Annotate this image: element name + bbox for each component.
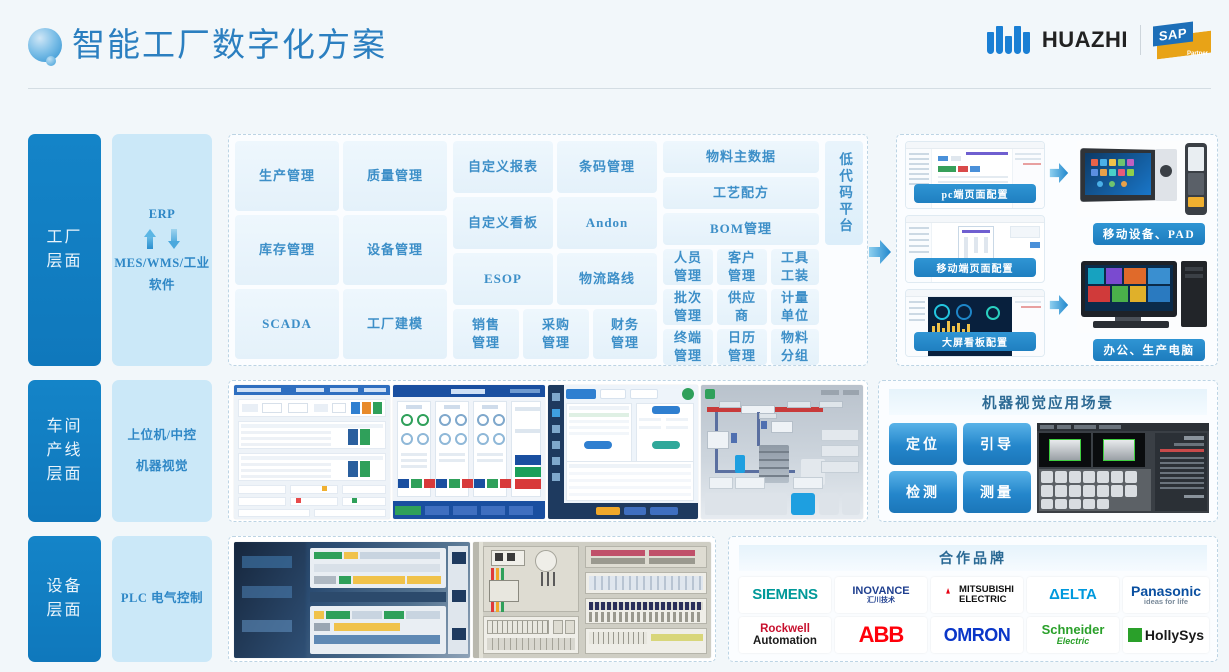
tile-line-1: 计量 xyxy=(781,289,809,307)
tile-line-1: 采购 xyxy=(542,316,570,334)
device-pill: 办公、生产电脑 xyxy=(1093,339,1205,361)
module-tile[interactable]: 物料分组 xyxy=(771,329,819,365)
module-tile[interactable]: 批次管理 xyxy=(663,289,713,325)
mes-form-screen[interactable] xyxy=(234,385,390,519)
module-tile[interactable]: 设备管理 xyxy=(343,215,447,285)
devices-panel: pc端页面配置 移动端页面配置 xyxy=(896,134,1218,366)
pc-config-card[interactable]: pc端页面配置 xyxy=(905,141,1045,209)
scada-3d-screen[interactable] xyxy=(701,385,863,519)
module-tile[interactable]: 工厂建模 xyxy=(343,289,447,359)
device-pill: 移动设备、PAD xyxy=(1093,223,1205,245)
brand-text: ΔELTA xyxy=(1049,587,1097,603)
brand-subtext: ideas for life xyxy=(1144,598,1188,606)
software-badge-equipment: PLC 电气控制 xyxy=(112,536,212,662)
layer-line-2: 层面 xyxy=(46,599,82,623)
module-tile[interactable]: 生产管理 xyxy=(235,141,339,211)
vision-title: 机器视觉应用场景 xyxy=(889,389,1207,415)
machine-vision-panel: 机器视觉应用场景 定位 引导 检测 测量 xyxy=(878,380,1218,522)
scada-label-1: 上位机/中控 xyxy=(128,425,197,446)
flow-arrow-icon xyxy=(1049,295,1069,315)
tile-line-1: 工具 xyxy=(781,249,809,267)
brand-logo[interactable]: HollySys xyxy=(1123,617,1209,653)
huazhi-mark-icon xyxy=(987,26,1030,54)
module-tile[interactable]: 日历管理 xyxy=(717,329,767,365)
vision-button[interactable]: 检测 xyxy=(889,471,957,513)
tile-line-1: 客户 xyxy=(728,249,756,267)
mobile-config-card[interactable]: 移动端页面配置 xyxy=(905,215,1045,283)
huazhi-brand-name: HUAZHI xyxy=(1042,27,1128,53)
module-tile[interactable]: 销售 管理 xyxy=(453,309,519,359)
tile-line-2: 工装 xyxy=(781,267,809,285)
tile-line-1: 人员 xyxy=(674,249,702,267)
tile-line-1: 物料 xyxy=(781,329,809,347)
layer-line-1: 工厂 xyxy=(46,226,82,250)
module-tile[interactable]: 客户管理 xyxy=(717,249,767,285)
module-tile[interactable]: 人员管理 xyxy=(663,249,713,285)
brand-text: OMRON xyxy=(944,626,1011,645)
brand-logo[interactable]: INOVANCE汇川技术 xyxy=(835,577,927,613)
module-tile[interactable]: 自定义看板 xyxy=(453,197,553,249)
brand-text: Schneider xyxy=(1042,623,1105,637)
brand-text: Panasonic xyxy=(1131,584,1201,599)
flow-arrow-icon xyxy=(1049,163,1069,183)
tile-line-2: 管理 xyxy=(728,267,756,285)
module-tile[interactable]: 采购 管理 xyxy=(523,309,589,359)
updown-arrows-icon xyxy=(144,229,180,249)
tile-line-2: 管理 xyxy=(674,267,702,285)
brand-text: HollySys xyxy=(1145,628,1204,643)
workshop-screenshots-panel xyxy=(228,380,868,522)
sap-logo-text: SAP xyxy=(1159,25,1187,43)
module-tile[interactable]: 财务 管理 xyxy=(593,309,657,359)
tile-line-1: 日历 xyxy=(728,329,756,347)
lowcode-platform-tile[interactable]: 低代码平台 xyxy=(825,141,863,245)
erp-label: ERP xyxy=(149,204,176,225)
vision-button[interactable]: 测量 xyxy=(963,471,1031,513)
layer-badge-equipment: 设备 层面 xyxy=(28,536,101,662)
tile-line-2: 管理 xyxy=(674,307,702,325)
page-title: 智能工厂数字化方案 xyxy=(72,18,387,66)
equipment-photos-panel xyxy=(228,536,716,662)
wms-list-screen[interactable] xyxy=(548,385,698,519)
layer-line-2: 产线 xyxy=(46,439,82,463)
software-badge-workshop: 上位机/中控 机器视觉 xyxy=(112,380,212,522)
module-tile[interactable]: 供应商 xyxy=(717,289,767,325)
tile-line-1: 供应 xyxy=(728,289,756,307)
tile-line-2: 管理 xyxy=(728,347,756,365)
vision-button[interactable]: 定位 xyxy=(889,423,957,465)
layer-badge-workshop: 车间 产线 层面 xyxy=(28,380,101,522)
brands-title: 合作品牌 xyxy=(739,545,1207,571)
module-tile[interactable]: 工具工装 xyxy=(771,249,819,285)
plc-label: PLC 电气控制 xyxy=(121,588,203,609)
partner-brands-panel: 合作品牌 SIEMENS INOVANCE汇川技术 MITSUBISHI ELE… xyxy=(728,536,1218,662)
mes-label-1: MES/WMS/工业 xyxy=(114,253,209,274)
logo-divider xyxy=(1140,25,1141,55)
sap-partner-label: Partner xyxy=(1187,51,1208,57)
brand-subtext: Electric xyxy=(1057,637,1090,646)
logo-group: HUAZHI SAP Partner xyxy=(987,22,1211,58)
config-label: pc端页面配置 xyxy=(914,184,1036,203)
module-tile[interactable]: 条码管理 xyxy=(557,141,657,193)
tile-line-2: 单位 xyxy=(781,307,809,325)
header-divider xyxy=(28,88,1211,89)
brand-subtext: 汇川技术 xyxy=(867,597,895,604)
tile-line-2: 商 xyxy=(735,307,749,325)
layer-line-1: 设备 xyxy=(46,575,82,599)
tile-line-1: 销售 xyxy=(472,316,500,334)
mitsubishi-mark-icon xyxy=(940,588,956,602)
layer-line-3: 层面 xyxy=(46,463,82,487)
module-tile[interactable]: 终端管理 xyxy=(663,329,713,365)
software-badge-factory: ERP MES/WMS/工业 软件 xyxy=(112,134,212,366)
module-tile[interactable]: BOM管理 xyxy=(663,213,819,245)
brand-logo[interactable]: RockwellAutomation xyxy=(739,617,831,653)
vision-inspection-screen[interactable] xyxy=(1037,423,1209,513)
control-cabinet-photo[interactable] xyxy=(473,542,711,658)
plc-rack-photo[interactable] xyxy=(234,542,470,658)
page-header: 智能工厂数字化方案 HUAZHI SAP Partner xyxy=(0,0,1229,90)
dashboard-config-card[interactable]: 大屏看板配置 xyxy=(905,289,1045,357)
tile-line-1: 财务 xyxy=(611,316,639,334)
arrow-down-icon xyxy=(168,229,180,249)
module-tile[interactable]: 库存管理 xyxy=(235,215,339,285)
module-tile[interactable]: 质量管理 xyxy=(343,141,447,211)
tile-line-2: 管理 xyxy=(472,334,500,352)
module-tile[interactable]: SCADA xyxy=(235,289,339,359)
brand-logo[interactable]: SIEMENS xyxy=(739,577,831,613)
brand-subtext: ELECTRIC xyxy=(959,595,1007,605)
tile-line-1: 批次 xyxy=(674,289,702,307)
brand-subtext: Automation xyxy=(753,635,817,647)
brand-logo[interactable]: SchneiderElectric xyxy=(1027,617,1119,653)
module-tile[interactable]: 物料主数据 xyxy=(663,141,819,173)
sap-partner-logo: SAP Partner xyxy=(1153,22,1211,58)
brand-text: ABB xyxy=(859,623,904,646)
hollysys-mark-icon xyxy=(1128,628,1142,642)
config-label: 移动端页面配置 xyxy=(914,258,1036,277)
mobile-device-photo xyxy=(1077,141,1213,217)
brand-logo[interactable]: OMRON xyxy=(931,617,1023,653)
compressor-monitor-screen[interactable] xyxy=(393,385,545,519)
tile-line-2: 管理 xyxy=(542,334,570,352)
module-tile[interactable]: Andon xyxy=(557,197,657,249)
arrow-up-icon xyxy=(144,229,156,249)
module-tile[interactable]: ESOP xyxy=(453,253,553,305)
layer-badge-factory: 工厂 层面 xyxy=(28,134,101,366)
mes-label-2: 软件 xyxy=(149,275,175,296)
office-pc-photo xyxy=(1077,255,1213,333)
brand-logo[interactable]: MITSUBISHI ELECTRIC xyxy=(931,577,1023,613)
scada-label-2: 机器视觉 xyxy=(136,456,188,477)
layer-line-1: 车间 xyxy=(46,415,82,439)
brand-logo[interactable]: ABB xyxy=(835,617,927,653)
bubble-icon xyxy=(28,28,62,62)
module-tile[interactable]: 计量单位 xyxy=(771,289,819,325)
brand-logo[interactable]: ΔELTA xyxy=(1027,577,1119,613)
vision-button[interactable]: 引导 xyxy=(963,423,1031,465)
module-tile[interactable]: 工艺配方 xyxy=(663,177,819,209)
brand-logo[interactable]: Panasonicideas for life xyxy=(1123,577,1209,613)
module-tile[interactable]: 物流路线 xyxy=(557,253,657,305)
tile-line-2: 分组 xyxy=(781,347,809,365)
brand-text: SIEMENS xyxy=(752,587,817,603)
tile-line-2: 管理 xyxy=(674,347,702,365)
layer-line-2: 层面 xyxy=(46,250,82,274)
module-tile[interactable]: 自定义报表 xyxy=(453,141,553,193)
modules-panel: 生产管理 质量管理 库存管理 设备管理 SCADA 工厂建模 自定义报表 条码管… xyxy=(228,134,868,366)
config-label: 大屏看板配置 xyxy=(914,332,1036,351)
flow-arrow-icon xyxy=(869,240,891,264)
tile-line-1: 终端 xyxy=(674,329,702,347)
brand-text: Rockwell xyxy=(760,623,810,635)
tile-line-2: 管理 xyxy=(611,334,639,352)
